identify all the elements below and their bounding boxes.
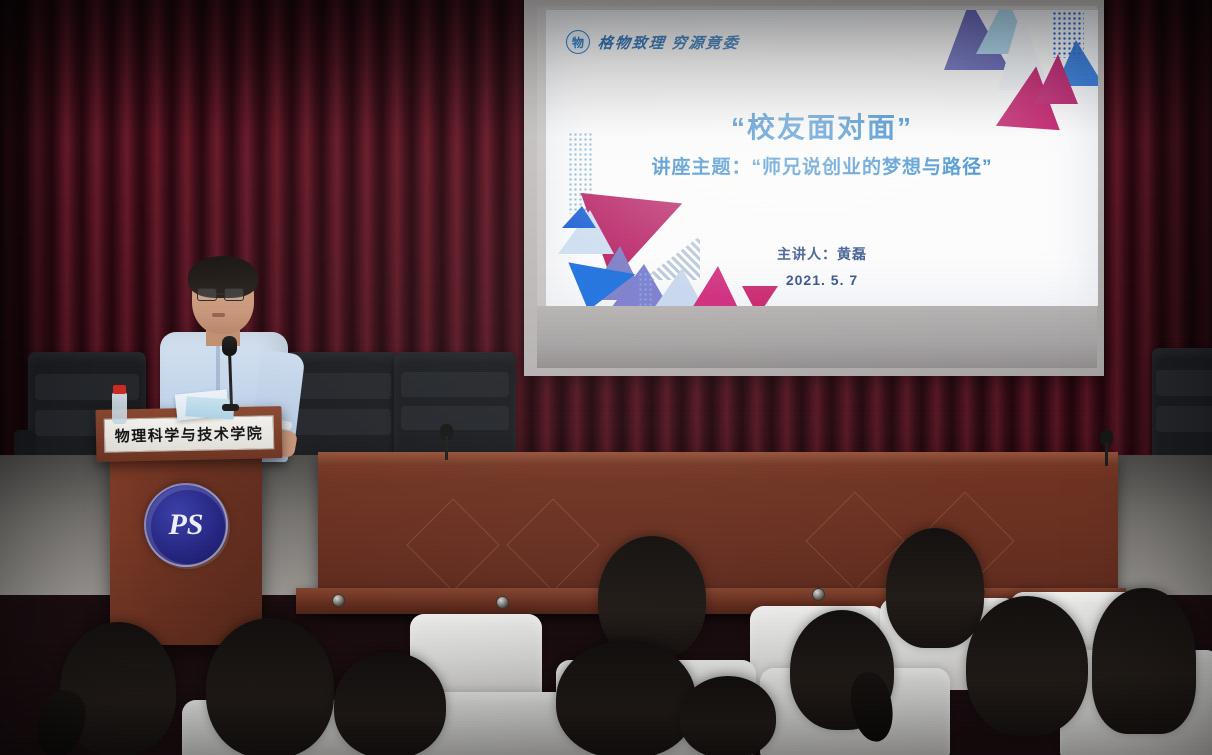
speaker-mouth [212,313,225,317]
podium-microphone-base [222,404,239,411]
speaker-glasses-right-lens [224,288,244,301]
slide-speaker-name: 主讲人：黄磊 [546,244,1098,264]
slide-logo-icon: 物 [566,30,590,54]
audience-head [334,652,446,755]
slide-subtitle: 讲座主题：“师兄说创业的梦想与路径” [546,152,1098,179]
audience-head [966,596,1088,736]
podium-emblem: PS [144,483,228,567]
audience-head [1092,588,1196,734]
podium-sign: 物理科学与技术学院 [104,415,275,453]
water-bottle-cap [113,385,126,394]
slide-triangle-magenta-right [1034,54,1078,104]
conference-table-top [318,452,1118,466]
stage-chair-3 [394,352,516,464]
lecture-hall-photo: 物 格物致理 穷源竟委 “校友面对面” 讲座主题：“师兄说创业的梦想与路径” 主… [0,0,1212,755]
slide-logo-motto: 格物致理 穷源竟委 [597,32,741,53]
rail-knob-1 [332,594,345,607]
rail-knob-2 [496,596,509,609]
table-microphone-stem [445,436,448,460]
slide-triangle-magenta-bottom2 [742,286,778,306]
water-bottle [112,392,127,424]
table-microphone-stem-2 [1105,442,1108,466]
stage-chair-4 [1152,348,1212,468]
podium-emblem-mark: PS [168,508,203,542]
screen-lower-blank [537,306,1097,368]
slide-logo: 物 格物致理 穷源竟委 [566,30,740,54]
audience-head [556,640,696,755]
speaker-glasses-bridge [217,293,224,295]
podium-body: PS [110,455,262,645]
slide-title: “校友面对面” [546,106,1098,146]
presentation-slide: 物 格物致理 穷源竟委 “校友面对面” 讲座主题：“师兄说创业的梦想与路径” 主… [546,10,1098,306]
speaker-glasses-left-lens [197,288,217,301]
slide-date: 2021. 5. 7 [546,272,1098,288]
audience-head [680,676,776,755]
rail-knob-3 [812,588,825,601]
podium-sign-text: 物理科学与技术学院 [115,422,264,446]
audience-head [206,618,334,755]
audience-head [886,528,984,648]
slide-triangle-blue-left [562,206,596,228]
